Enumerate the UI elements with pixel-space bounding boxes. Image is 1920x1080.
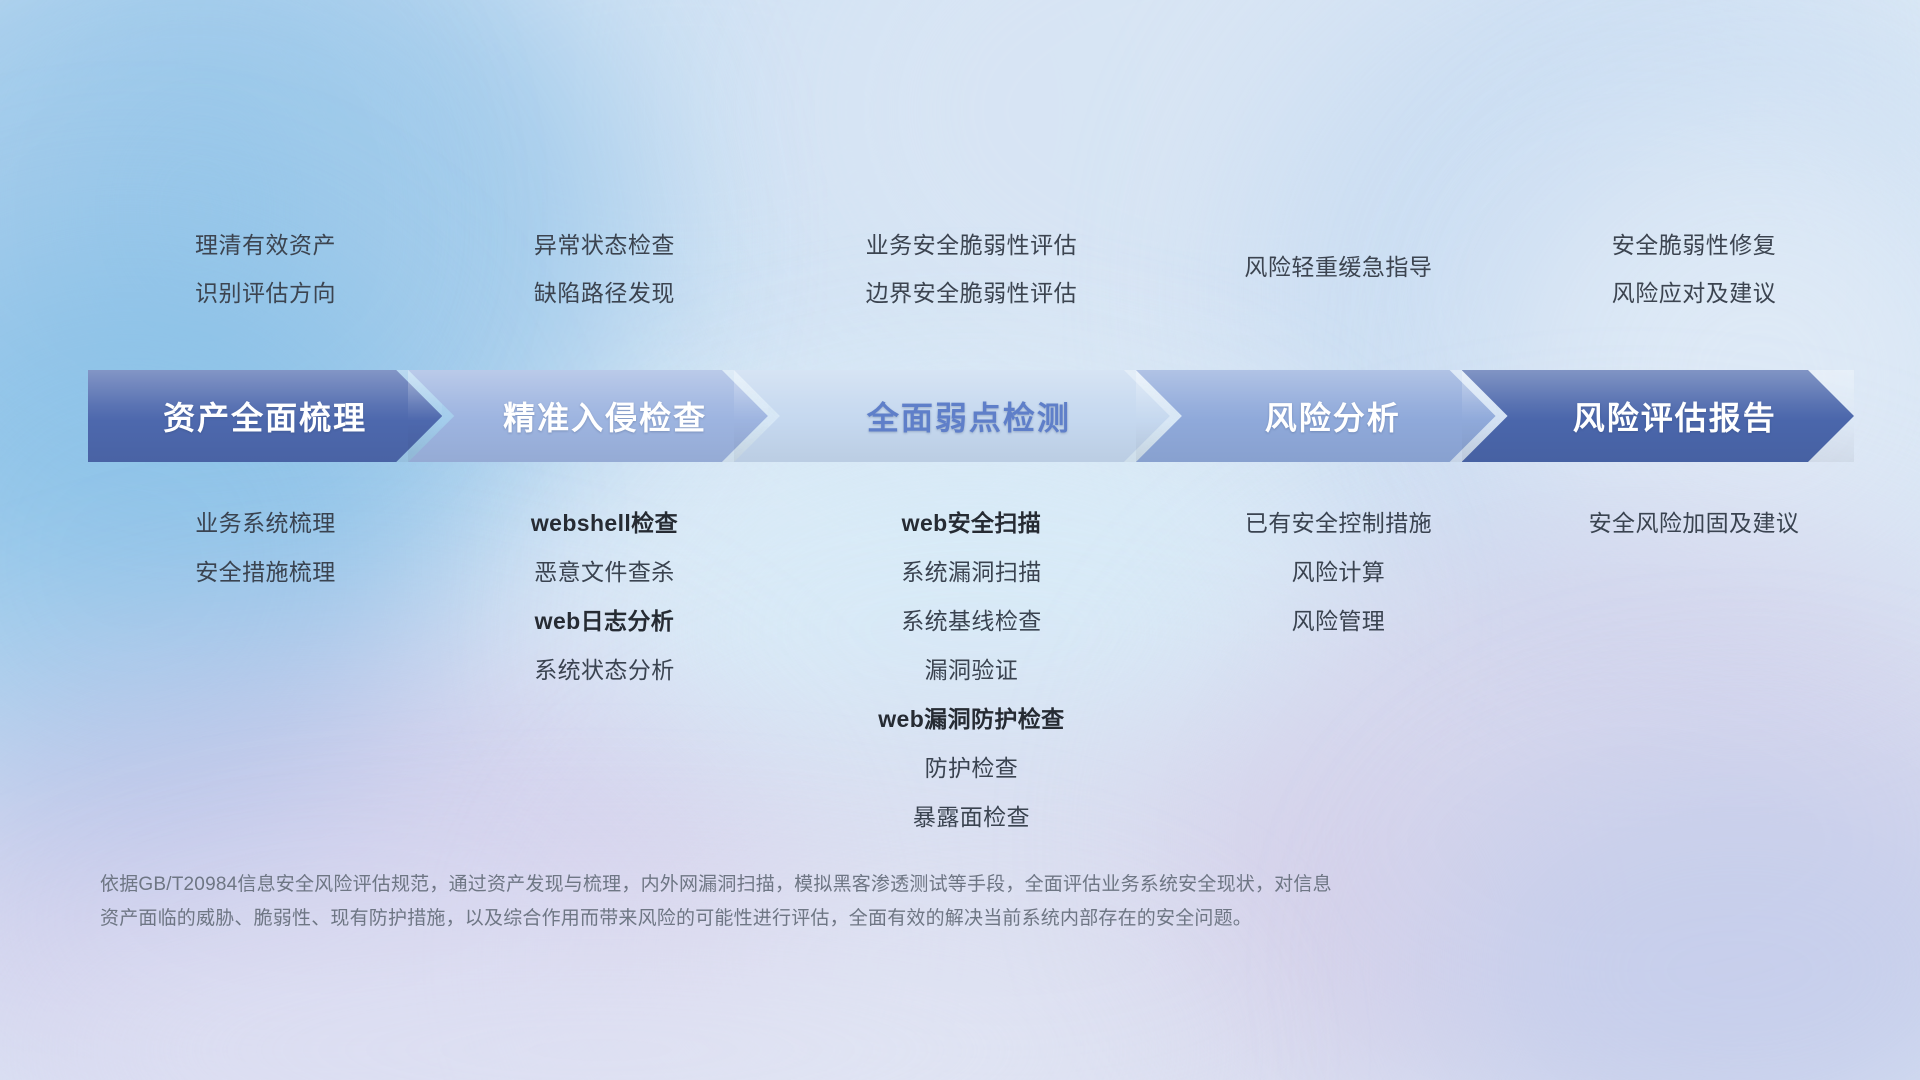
bottom-activities-stage-2: webshell检查恶意文件查杀web日志分析系统状态分析: [435, 504, 774, 832]
top-outcome-item: 风险应对及建议: [1612, 274, 1777, 308]
top-outcome-item: 理清有效资产: [195, 226, 336, 260]
top-outcome-item: 风险轻重缓急指导: [1244, 248, 1432, 282]
top-outcomes-stage-5: 安全脆弱性修复 风险应对及建议: [1508, 226, 1880, 308]
stage-arrow-2[interactable]: 精准入侵检查: [408, 370, 768, 462]
bottom-activities-stage-5: 安全风险加固及建议: [1508, 504, 1880, 832]
stage-arrow-4-label: 风险分析: [1136, 393, 1496, 439]
bottom-activity-item: 业务系统梳理: [195, 504, 335, 538]
top-outcomes-stage-4: 风险轻重缓急指导: [1169, 226, 1508, 308]
stage-arrow-4[interactable]: 风险分析: [1136, 370, 1496, 462]
bottom-activity-item: 风险计算: [1292, 553, 1386, 587]
bottom-activity-item: 防护检查: [925, 749, 1019, 783]
top-outcomes-stage-3: 业务安全脆弱性评估 边界安全脆弱性评估: [774, 226, 1169, 308]
top-outcome-item: 异常状态检查: [534, 226, 675, 260]
stage-arrow-1[interactable]: 资产全面梳理: [88, 370, 442, 462]
bottom-activity-item: 安全风险加固及建议: [1589, 504, 1800, 538]
stage-arrow-3[interactable]: 全面弱点检测: [734, 370, 1170, 462]
bottom-activity-item: web漏洞防护检查: [878, 700, 1064, 734]
stage-arrow-band: 资产全面梳理 精准入侵检查 全面弱点检测 风险分析 风险评估报告: [88, 370, 1854, 462]
top-outcomes-stage-2: 异常状态检查 缺陷路径发现: [435, 226, 774, 308]
bottom-activity-item: web日志分析: [535, 602, 675, 636]
bottom-activities-stage-3: web安全扫描系统漏洞扫描系统基线检查漏洞验证web漏洞防护检查防护检查暴露面检…: [774, 504, 1169, 832]
bottom-activity-item: 漏洞验证: [925, 651, 1019, 685]
stage-arrow-3-label: 全面弱点检测: [734, 393, 1170, 439]
process-diagram: 理清有效资产 识别评估方向 异常状态检查 缺陷路径发现 业务安全脆弱性评估 边界…: [0, 0, 1920, 1080]
bottom-activities-stage-4: 已有安全控制措施风险计算风险管理: [1169, 504, 1508, 832]
top-outcome-item: 安全脆弱性修复: [1612, 226, 1777, 260]
top-outcome-item: 边界安全脆弱性评估: [866, 274, 1078, 308]
footer-line-1: 依据GB/T20984信息安全风险评估规范，通过资产发现与梳理，内外网漏洞扫描，…: [100, 868, 1620, 902]
stage-arrow-5[interactable]: 风险评估报告: [1462, 370, 1854, 462]
top-outcomes-row: 理清有效资产 识别评估方向 异常状态检查 缺陷路径发现 业务安全脆弱性评估 边界…: [96, 226, 1880, 308]
bottom-activity-item: 暴露面检查: [913, 798, 1030, 832]
bottom-activity-item: 风险管理: [1292, 602, 1386, 636]
footer-line-2: 资产面临的威胁、脆弱性、现有防护措施，以及综合作用而带来风险的可能性进行评估，全…: [100, 902, 1620, 936]
top-outcome-item: 识别评估方向: [195, 274, 336, 308]
bottom-activity-item: 系统状态分析: [534, 651, 674, 685]
bottom-activity-item: 恶意文件查杀: [534, 553, 674, 587]
top-outcomes-stage-1: 理清有效资产 识别评估方向: [96, 226, 435, 308]
bottom-activity-item: 已有安全控制措施: [1245, 504, 1432, 538]
bottom-activity-item: webshell检查: [531, 504, 678, 538]
bottom-activities-row: 业务系统梳理安全措施梳理 webshell检查恶意文件查杀web日志分析系统状态…: [96, 504, 1880, 832]
bottom-activity-item: 系统基线检查: [901, 602, 1041, 636]
bottom-activities-stage-1: 业务系统梳理安全措施梳理: [96, 504, 435, 832]
bottom-activity-item: web安全扫描: [902, 504, 1042, 538]
stage-arrow-1-label: 资产全面梳理: [88, 393, 442, 439]
footer-description: 依据GB/T20984信息安全风险评估规范，通过资产发现与梳理，内外网漏洞扫描，…: [100, 868, 1620, 936]
stage-arrow-5-label: 风险评估报告: [1462, 393, 1854, 439]
bottom-activity-item: 系统漏洞扫描: [901, 553, 1041, 587]
stage-arrow-2-label: 精准入侵检查: [408, 393, 768, 439]
bottom-activity-item: 安全措施梳理: [195, 553, 335, 587]
top-outcome-item: 业务安全脆弱性评估: [866, 226, 1078, 260]
top-outcome-item: 缺陷路径发现: [534, 274, 675, 308]
